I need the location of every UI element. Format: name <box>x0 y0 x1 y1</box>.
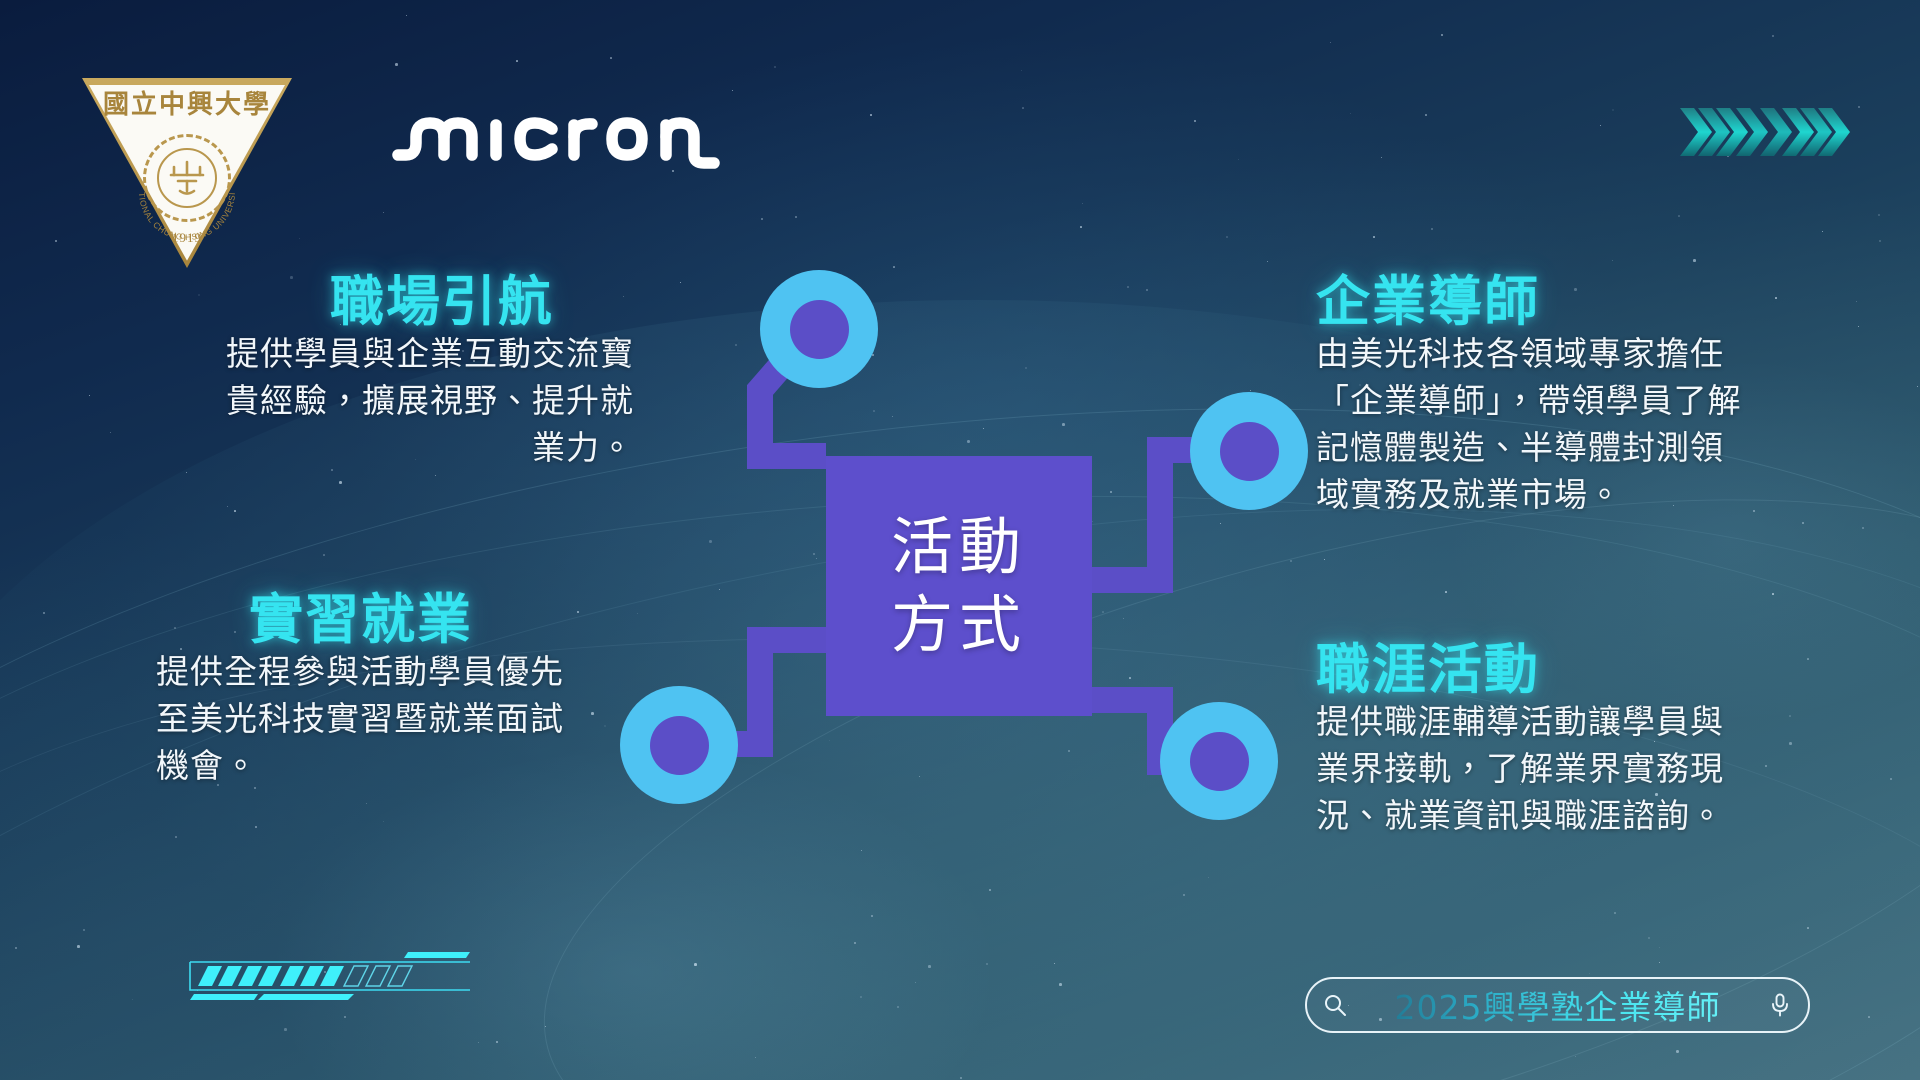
branch-body: 提供學員與企業互動交流寶貴經驗，擴展視野、提升就業力。 <box>214 331 634 472</box>
node-core <box>1220 422 1279 481</box>
branch-title: 職場引航 <box>214 272 634 331</box>
branch-corporate-mentor: 企業導師 由美光科技各領域專家擔任「企業導師」，帶領學員了解記憶體製造、半導體封… <box>1316 272 1746 519</box>
search-bar[interactable]: 2025興學塾企業導師 <box>1305 977 1810 1033</box>
node-career-activity[interactable] <box>1160 702 1278 820</box>
node-core <box>1190 732 1249 791</box>
branch-internship-employment: 實習就業 提供全程參與活動學員優先至美光科技實習暨就業面試機會。 <box>156 590 566 790</box>
node-corporate-mentor[interactable] <box>1190 392 1308 510</box>
node-career-navigation[interactable] <box>760 270 878 388</box>
branch-title: 實習就業 <box>156 590 566 649</box>
slide-root: 國立中興大學 NATIONAL CHUNG HSING UNIVERSITY <box>0 0 1920 1080</box>
node-core <box>790 300 849 359</box>
logo-seal-ring <box>143 134 231 222</box>
center-label-line2: 方式 <box>891 592 1027 658</box>
micron-logo <box>392 95 722 171</box>
node-core <box>650 716 709 775</box>
center-label-line1: 活動 <box>891 514 1027 580</box>
branch-title: 企業導師 <box>1316 272 1746 331</box>
microphone-icon[interactable] <box>1752 992 1808 1018</box>
chevron-decoration <box>1678 102 1868 162</box>
logo-seal-glyph <box>165 158 209 198</box>
logo-university-name-zh: 國立中興大學 <box>82 92 292 118</box>
hud-progress-bar <box>186 950 474 1002</box>
nchu-university-logo: 國立中興大學 NATIONAL CHUNG HSING UNIVERSITY <box>82 78 292 268</box>
branch-body: 提供全程參與活動學員優先至美光科技實習暨就業面試機會。 <box>156 649 566 790</box>
branch-body: 提供職涯輔導活動讓學員與業界接軌，了解業界實務現況、就業資訊與職涯諮詢。 <box>1316 699 1746 840</box>
center-node-activity-method: 活動 方式 <box>826 456 1092 716</box>
node-internship-employment[interactable] <box>620 686 738 804</box>
search-icon[interactable] <box>1307 992 1363 1018</box>
branch-title: 職涯活動 <box>1316 640 1746 699</box>
branch-career-navigation: 職場引航 提供學員與企業互動交流寶貴經驗，擴展視野、提升就業力。 <box>214 272 634 472</box>
branch-body: 由美光科技各領域專家擔任「企業導師」，帶領學員了解記憶體製造、半導體封測領域實務… <box>1316 331 1746 518</box>
search-input-value[interactable]: 2025興學塾企業導師 <box>1363 981 1752 1029</box>
branch-career-activity: 職涯活動 提供職涯輔導活動讓學員與業界接軌，了解業界實務現況、就業資訊與職涯諮詢… <box>1316 640 1746 840</box>
logo-founded-year: 1919 <box>82 230 292 246</box>
